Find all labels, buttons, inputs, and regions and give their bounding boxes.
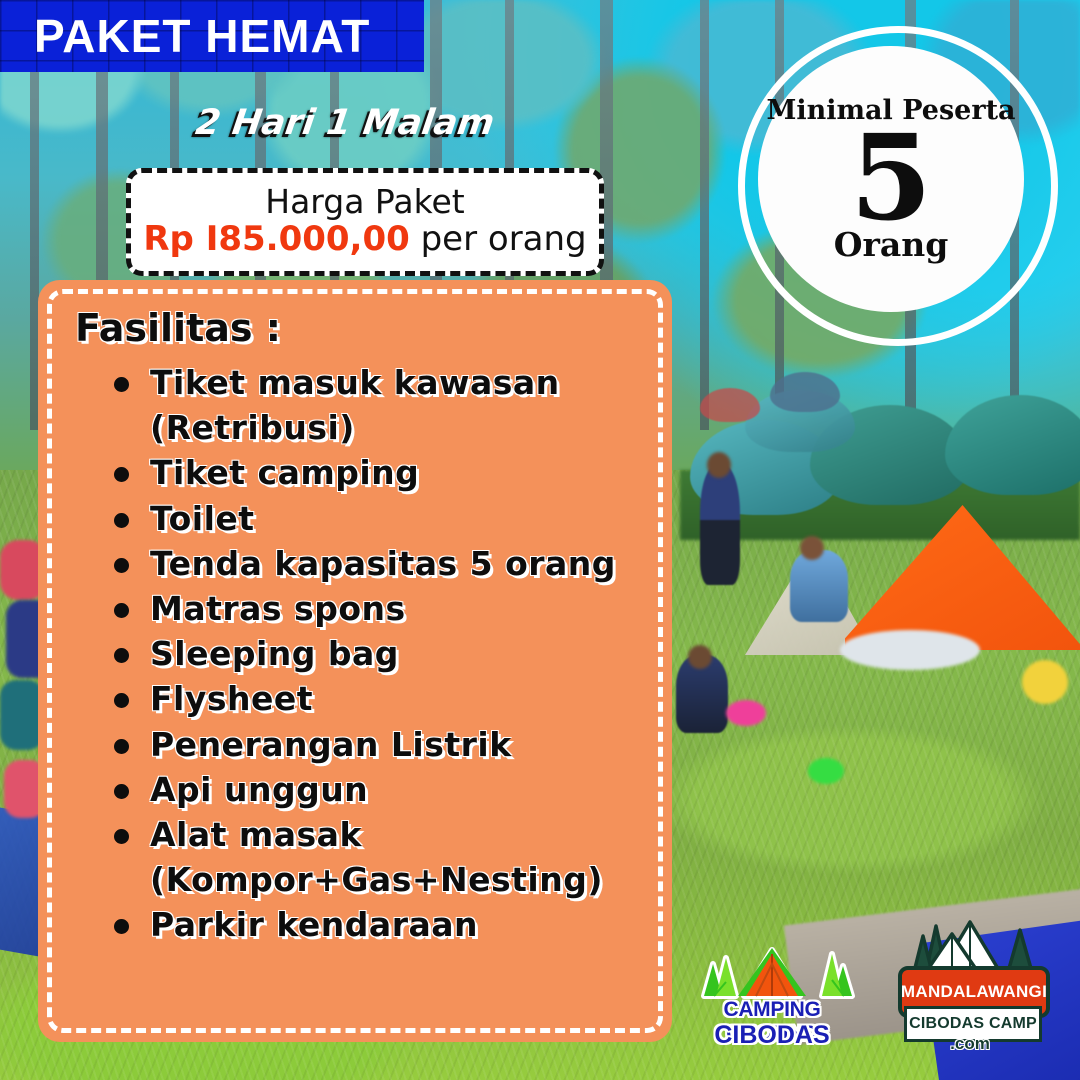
gear-yellow [1022, 660, 1068, 704]
tent-and-trees-icon [686, 930, 858, 1002]
price-amount: Rp I85.000,00 [143, 219, 409, 259]
list-item: Parkir kendaraan [108, 902, 648, 947]
list-item: Tiket masuk kawasan (Retribusi) [108, 360, 648, 450]
list-item: Tiket camping [108, 450, 648, 495]
list-item: Toilet [108, 496, 648, 541]
list-item: Sleeping bag [108, 631, 648, 676]
gear-pile [840, 630, 980, 670]
person-head [707, 452, 731, 478]
list-item: Tenda kapasitas 5 orang [108, 541, 648, 586]
header-banner: PAKET HEMAT [0, 0, 424, 72]
price-line: Rp I85.000,00 per orang [143, 220, 586, 259]
dome-tent-small [770, 372, 840, 412]
camping-ground-cibodas-logo: CAMPING GROUND CIBODAS [686, 926, 858, 1048]
price-label: Harga Paket [265, 185, 465, 220]
minimum-participants-badge: Minimal Peserta 5 Orang [758, 46, 1024, 312]
logo-line-2: CIBODAS CAMP [909, 1015, 1037, 1033]
list-item: Flysheet [108, 676, 648, 721]
logo-line-1: MANDALAWANGI [901, 982, 1047, 1002]
gear-green [808, 758, 844, 784]
facilities-card: Fasilitas : Tiket masuk kawasan (Retribu… [38, 280, 672, 1042]
facilities-heading: Fasilitas : [75, 306, 281, 350]
mandalawangi-cibodas-camp-logo: MANDALAWANGI CIBODAS CAMP .com [890, 914, 1050, 1056]
person-head [800, 536, 824, 560]
price-box: Harga Paket Rp I85.000,00 per orang [126, 168, 604, 276]
facilities-list: Tiket masuk kawasan (Retribusi) Tiket ca… [108, 360, 648, 948]
list-item: Penerangan Listrik [108, 722, 648, 767]
dome-tent-small [700, 388, 760, 422]
person-standing [700, 465, 740, 585]
badge-number: 5 [850, 126, 932, 230]
duration-subtitle: 2 Hari 1 Malam [193, 103, 497, 143]
list-item: Alat masak (Kompor+Gas+Nesting) [108, 812, 648, 902]
banner-title: PAKET HEMAT [34, 0, 370, 72]
gear-pink [726, 700, 766, 726]
person-sitting [790, 550, 848, 622]
list-item: Api unggun [108, 767, 648, 812]
badge-bottom-label: Orang [834, 228, 949, 261]
list-item: Matras spons [108, 586, 648, 631]
poster-canvas: PAKET HEMAT 2 Hari 1 Malam Harga Paket R… [0, 0, 1080, 1080]
logo-line-2: CIBODAS [686, 1021, 858, 1050]
price-suffix: per orang [410, 219, 587, 259]
logo-line-3: .com [890, 1034, 1050, 1054]
person-head [688, 645, 712, 669]
